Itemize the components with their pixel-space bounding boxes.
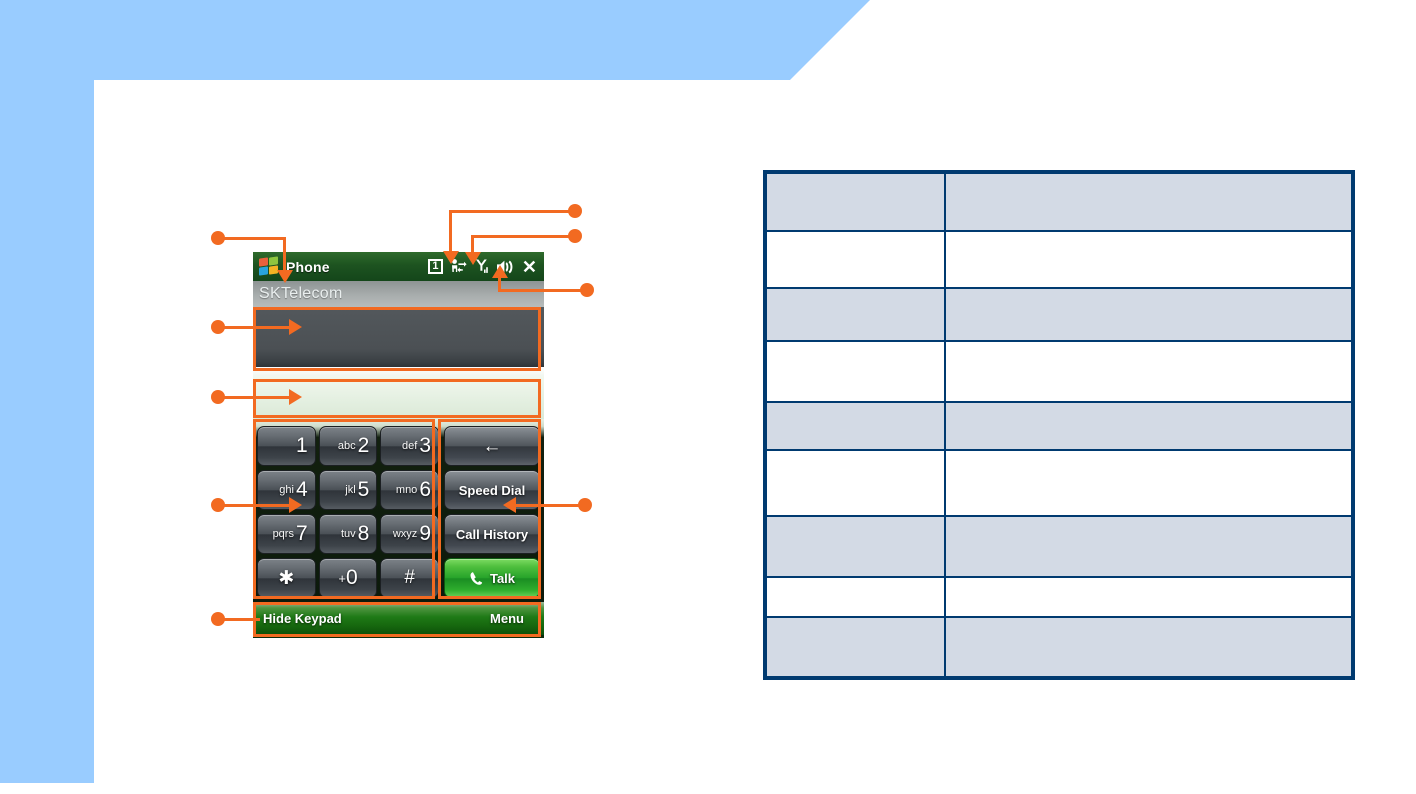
callout-4-dot	[211, 498, 225, 512]
table-cell	[765, 577, 945, 617]
function-keys-highlight	[438, 419, 541, 599]
table-row	[765, 231, 1353, 288]
table-cell	[765, 231, 945, 288]
callout-1-stem	[283, 237, 286, 273]
left-rail-decoration	[0, 0, 94, 783]
table-row	[765, 450, 1353, 515]
callout-6-stem	[449, 210, 452, 254]
callout-1-line	[224, 237, 286, 240]
callout-9-line	[515, 504, 581, 507]
table-cell	[765, 450, 945, 515]
callout-8-stem	[498, 278, 501, 290]
callout-5-line	[224, 618, 260, 621]
callout-1-arrow	[277, 270, 293, 283]
header-banner-decoration	[0, 0, 870, 80]
callout-9-arrow	[503, 497, 516, 513]
info-table-body	[765, 172, 1353, 678]
table-cell	[945, 341, 1353, 402]
sim-slot-indicator-icon[interactable]: 1	[428, 259, 443, 274]
callout-7-arrow	[465, 252, 481, 265]
callout-6-line	[449, 210, 571, 213]
table-cell	[765, 402, 945, 450]
table-cell	[945, 617, 1353, 678]
callout-2-line	[224, 326, 292, 329]
table-row	[765, 577, 1353, 617]
table-row	[765, 516, 1353, 577]
carrier-name-label: SKTelecom	[259, 285, 343, 303]
table-row	[765, 617, 1353, 678]
display-area-highlight	[253, 307, 541, 371]
info-table	[763, 170, 1355, 680]
callout-1-dot	[211, 231, 225, 245]
table-row	[765, 172, 1353, 231]
table-cell	[765, 617, 945, 678]
table-cell	[945, 516, 1353, 577]
callout-3-arrow	[289, 389, 302, 405]
table-cell	[765, 288, 945, 341]
callout-4-arrow	[289, 497, 302, 513]
callout-3-line	[224, 396, 292, 399]
callout-4-line	[224, 504, 292, 507]
callout-2-dot	[211, 320, 225, 334]
table-row	[765, 402, 1353, 450]
table-cell	[945, 402, 1353, 450]
callout-7-line	[471, 235, 571, 238]
table-cell	[945, 577, 1353, 617]
table-cell	[945, 288, 1353, 341]
table-cell	[765, 516, 945, 577]
close-icon[interactable]: ✕	[522, 259, 537, 275]
table-cell	[765, 172, 945, 231]
table-row	[765, 341, 1353, 402]
callout-8-line	[498, 289, 584, 292]
callout-5-dot	[211, 612, 225, 626]
callout-6-arrow	[443, 251, 459, 264]
callout-8-arrow	[492, 265, 508, 278]
soft-key-bar-highlight	[253, 602, 541, 637]
table-cell	[945, 450, 1353, 515]
page-root: Phone 1	[0, 0, 1416, 794]
table-cell	[765, 341, 945, 402]
table-cell	[945, 172, 1353, 231]
table-row	[765, 288, 1353, 341]
table-cell	[945, 231, 1353, 288]
callout-3-dot	[211, 390, 225, 404]
callout-2-arrow	[289, 319, 302, 335]
numeric-keypad-highlight	[253, 419, 435, 599]
